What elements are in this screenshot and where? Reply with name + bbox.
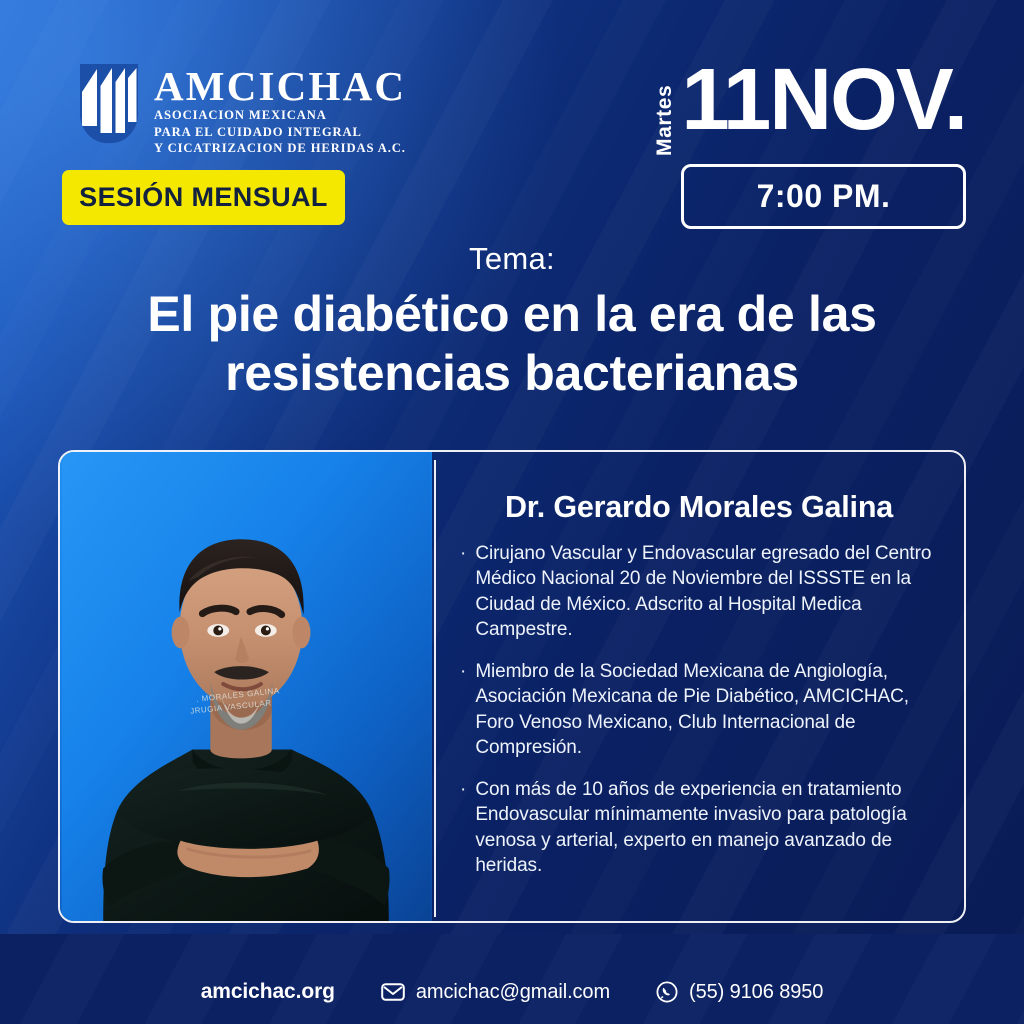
bullet-glyph-icon: · — [460, 541, 466, 642]
brand-logo: AMCICHAC ASOCIACION MEXICANA PARA EL CUI… — [78, 64, 406, 157]
brand-subtitle-line-2: PARA EL CUIDADO INTEGRAL — [154, 124, 406, 141]
brand-name: AMCICHAC — [154, 66, 406, 107]
session-badge: SESIÓN MENSUAL — [62, 170, 345, 225]
event-time-box: 7:00 PM. — [681, 164, 966, 229]
footer-phone-group[interactable]: (55) 9106 8950 — [656, 981, 823, 1004]
footer-email: amcichac@gmail.com — [416, 981, 610, 1004]
bio-text: Cirujano Vascular y Endovascular egresad… — [475, 541, 938, 642]
speaker-name: Dr. Gerardo Morales Galina — [460, 490, 938, 525]
footer-phone: (55) 9106 8950 — [689, 981, 823, 1004]
event-weekday: Martes — [654, 74, 675, 166]
bio-bullet-item: · Cirujano Vascular y Endovascular egres… — [460, 541, 938, 642]
topic-eyebrow: Tema: — [0, 240, 1024, 277]
event-date: Martes 11NOV. — [654, 58, 966, 166]
session-badge-label: SESIÓN MENSUAL — [79, 182, 328, 213]
footer-website[interactable]: amcichac.org — [201, 980, 335, 1004]
speaker-portrait-image: . MORALES GALINA JRUGIA VASCULAR — [60, 452, 432, 921]
bullet-glyph-icon: · — [460, 659, 466, 760]
footer-email-group[interactable]: amcichac@gmail.com — [381, 981, 610, 1004]
speaker-photo-panel: . MORALES GALINA JRUGIA VASCULAR — [60, 452, 432, 921]
whatsapp-icon — [656, 981, 678, 1003]
bio-bullet-item: · Con más de 10 años de experiencia en t… — [460, 777, 938, 878]
footer-contact-bar: amcichac.org amcichac@gmail.com (55) 910… — [0, 980, 1024, 1004]
brand-logo-text: AMCICHAC ASOCIACION MEXICANA PARA EL CUI… — [154, 64, 406, 157]
topic-title: El pie diabético en la era de las resist… — [0, 285, 1024, 403]
amcichac-shield-logo-icon — [78, 64, 140, 144]
speaker-card: . MORALES GALINA JRUGIA VASCULAR Dr. Ger… — [58, 450, 966, 923]
bio-text: Con más de 10 años de experiencia en tra… — [475, 777, 938, 878]
event-poster: AMCICHAC ASOCIACION MEXICANA PARA EL CUI… — [0, 0, 1024, 1024]
bio-bullet-item: · Miembro de la Sociedad Mexicana de Ang… — [460, 659, 938, 760]
topic-block: Tema: El pie diabético en la era de las … — [0, 240, 1024, 403]
footer-background-streaks — [0, 934, 1024, 1024]
brand-subtitle-line-1: ASOCIACION MEXICANA — [154, 107, 406, 124]
event-day-month: 11NOV. — [681, 58, 966, 142]
speaker-bio-panel: Dr. Gerardo Morales Galina · Cirujano Va… — [442, 452, 966, 921]
envelope-icon — [381, 983, 405, 1001]
card-divider — [434, 460, 436, 917]
brand-subtitle-line-3: Y CICATRIZACION DE HERIDAS A.C. — [154, 140, 406, 157]
bullet-glyph-icon: · — [460, 777, 466, 878]
event-time: 7:00 PM. — [757, 178, 891, 215]
bio-text: Miembro de la Sociedad Mexicana de Angio… — [475, 659, 938, 760]
